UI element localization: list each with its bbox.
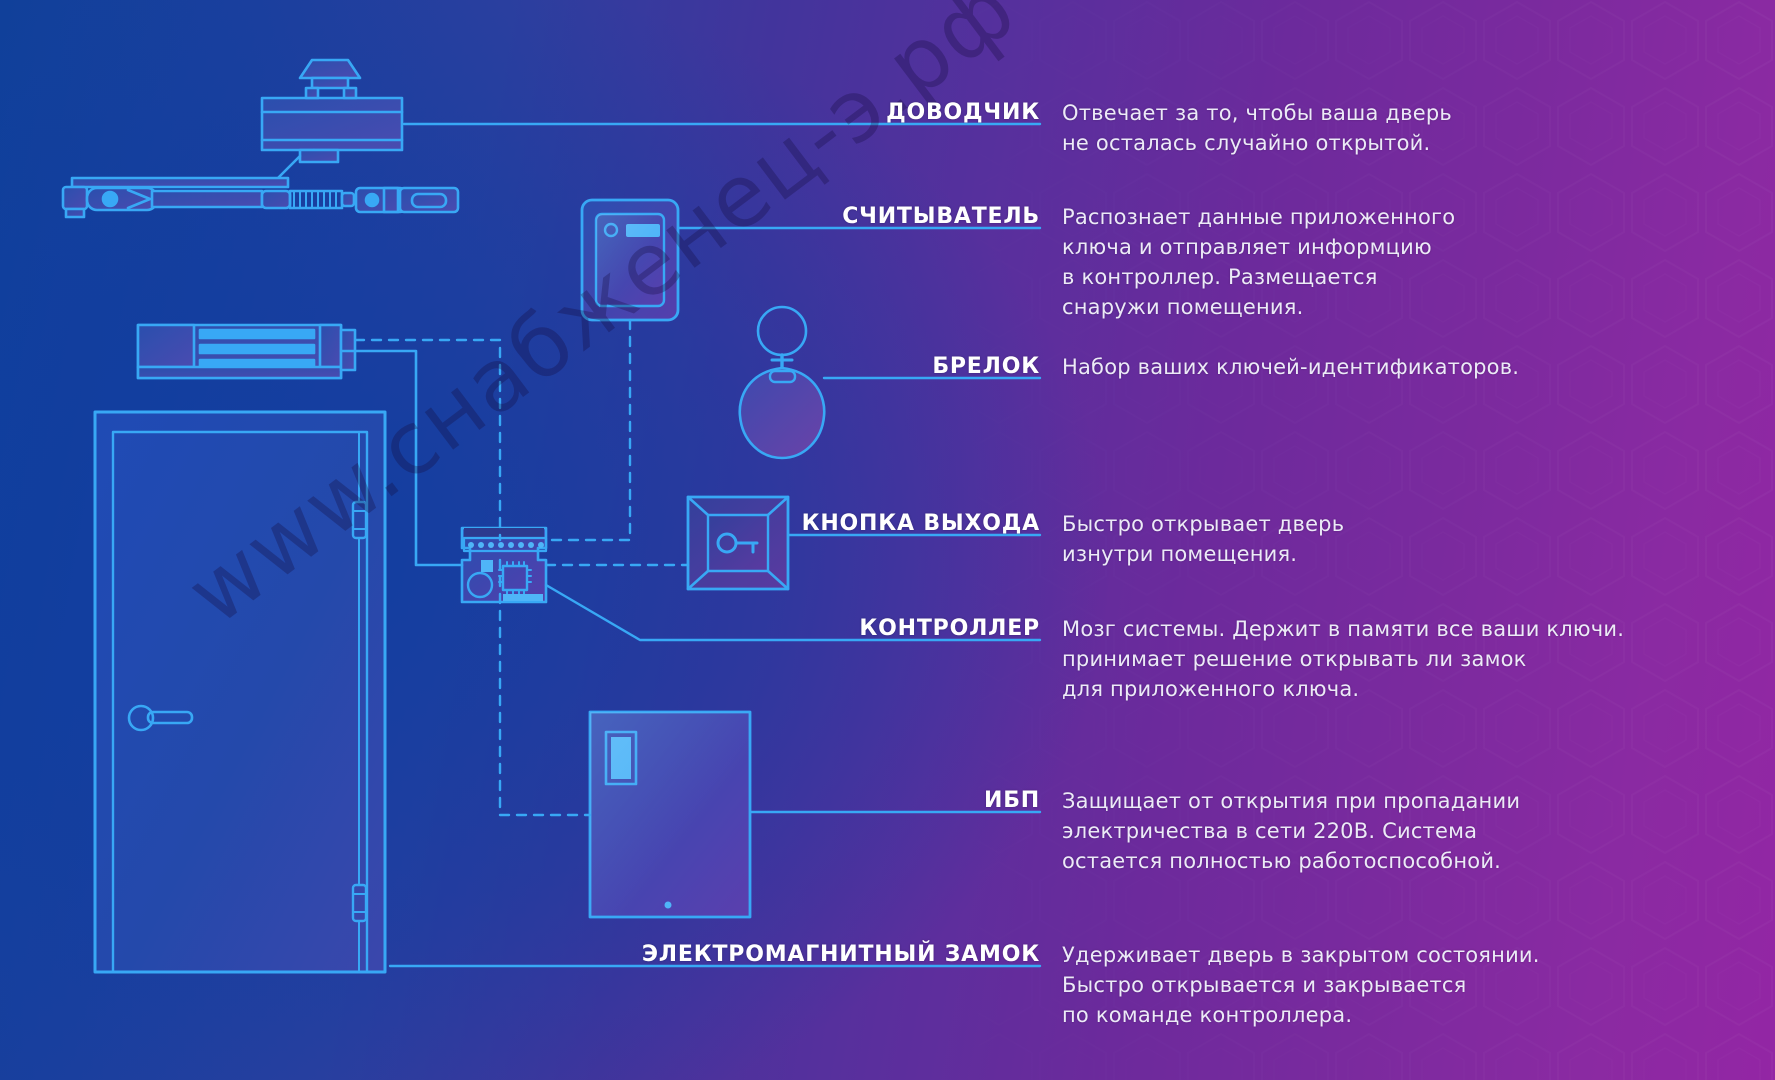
description-exit-button: Быстро открывает дверь изнутри помещения… (1062, 509, 1722, 569)
description-ups: Защищает от открытия при пропадании элек… (1062, 786, 1752, 876)
term-controller: КОНТРОЛЛЕР (720, 616, 1040, 641)
door-illustration (95, 412, 385, 972)
description-reader: Распознает данные приложенного ключа и о… (1062, 202, 1742, 322)
key-fob-illustration (740, 307, 824, 458)
term-reader: СЧИТЫВАТЕЛЬ (740, 204, 1040, 229)
term-key-fob: БРЕЛОК (740, 354, 1040, 379)
door-closer-illustration (63, 60, 458, 217)
description-controller: Мозг системы. Держит в памяти все ваши к… (1062, 614, 1762, 704)
card-reader-illustration (582, 200, 678, 320)
magnetic-lock-illustration (138, 325, 355, 378)
infographic-canvas: www.снабженец-э.рф ДОВОДЧИК Отвечает за … (0, 0, 1775, 1080)
term-ups: ИБП (820, 788, 1040, 813)
term-door-closer: ДОВОДЧИК (740, 100, 1040, 125)
term-exit-button: КНОПКА ВЫХОДА (700, 511, 1040, 536)
description-electromagnetic-lock: Удерживает дверь в закрытом состоянии. Б… (1062, 940, 1762, 1030)
description-key-fob: Набор ваших ключей-идентификаторов. (1062, 352, 1752, 382)
term-electromagnetic-lock: ЭЛЕКТРОМАГНИТНЫЙ ЗАМОК (580, 942, 1040, 967)
controller-board-illustration (462, 528, 546, 602)
ups-illustration (590, 712, 750, 917)
description-door-closer: Отвечает за то, чтобы ваша дверь не оста… (1062, 98, 1722, 158)
